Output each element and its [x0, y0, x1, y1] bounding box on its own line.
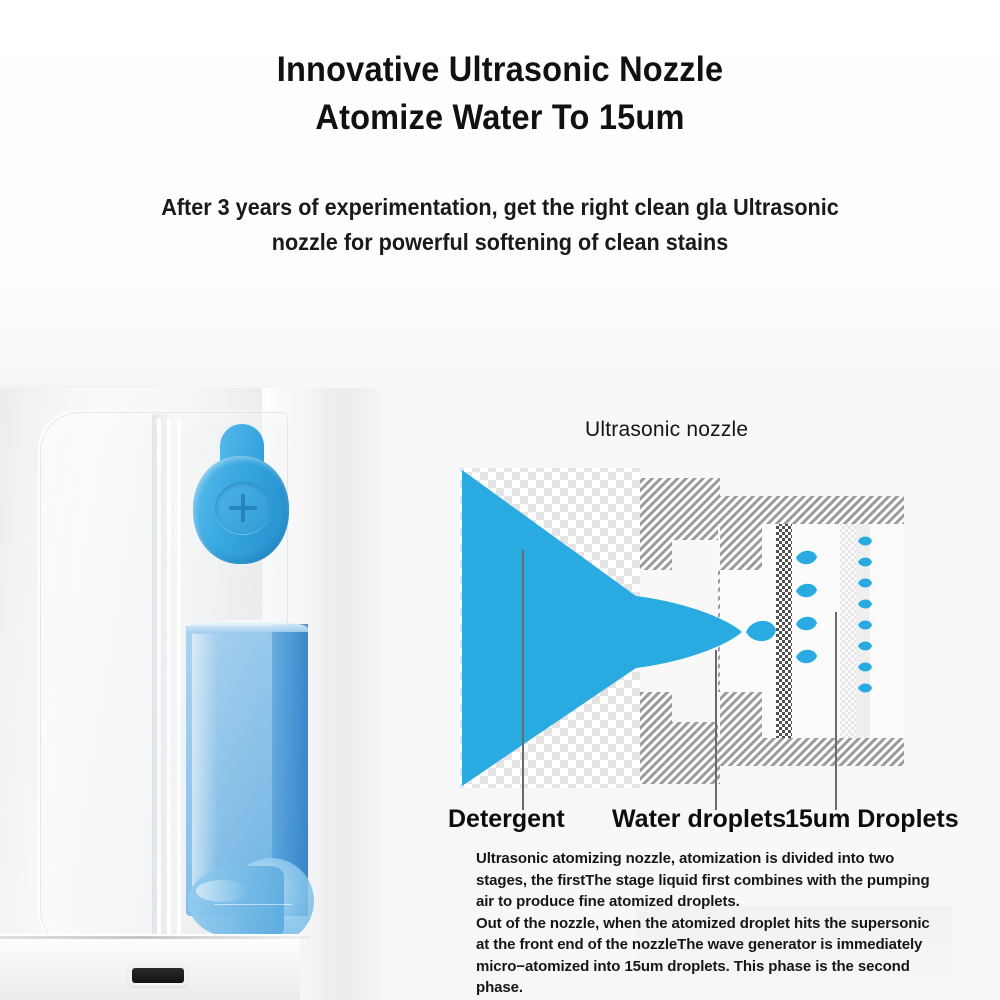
product-photo — [0, 388, 382, 1000]
valve-cone-seam — [214, 904, 292, 905]
body-copy: Ultrasonic atomizing nozzle, atomization… — [476, 848, 946, 999]
callout-label-row: Detergent Water droplets 15um Droplets — [440, 805, 1000, 845]
tank-rib-2 — [167, 418, 171, 943]
ultrasonic-mesh-plate — [776, 524, 792, 738]
valve-cone-highlight — [196, 880, 248, 902]
secondary-plate-shadow — [856, 524, 870, 738]
header-block: Innovative Ultrasonic Nozzle Atomize Wat… — [0, 46, 1000, 142]
page-title-line-1: Innovative Ultrasonic Nozzle — [35, 46, 965, 94]
photo-right-fade — [330, 388, 382, 1000]
page-title-line-2: Atomize Water To 15um — [35, 94, 965, 142]
product-infographic-page: Innovative Ultrasonic Nozzle Atomize Wat… — [0, 0, 1000, 1000]
detergent-liquid-gloss — [192, 634, 218, 902]
appliance-bezel-seam — [0, 936, 310, 939]
appliance-port-slot — [132, 968, 184, 983]
tank-rib-1 — [157, 418, 161, 943]
callout-water-droplets: Water droplets — [612, 805, 786, 834]
valve-cone-body — [188, 866, 284, 938]
plus-icon-vertical-stroke — [241, 494, 245, 522]
page-subtitle-line-2: nozzle for powerful softening of clean s… — [30, 225, 970, 260]
tank-filler-cap — [193, 424, 289, 564]
page-subtitle: After 3 years of experimentation, get th… — [0, 190, 1000, 260]
page-subtitle-line-1: After 3 years of experimentation, get th… — [30, 190, 970, 225]
tank-rib-3 — [177, 418, 181, 943]
detergent-liquid-surface — [186, 620, 308, 632]
callout-15um-droplets: 15um Droplets — [785, 805, 959, 834]
body-copy-paragraph-1: Ultrasonic atomizing nozzle, atomization… — [476, 848, 946, 913]
secondary-plate — [840, 524, 856, 738]
body-copy-paragraph-2: Out of the nozzle, when the atomized dro… — [476, 913, 946, 999]
callout-detergent: Detergent — [448, 805, 565, 834]
nozzle-diagram-svg — [440, 400, 1000, 870]
